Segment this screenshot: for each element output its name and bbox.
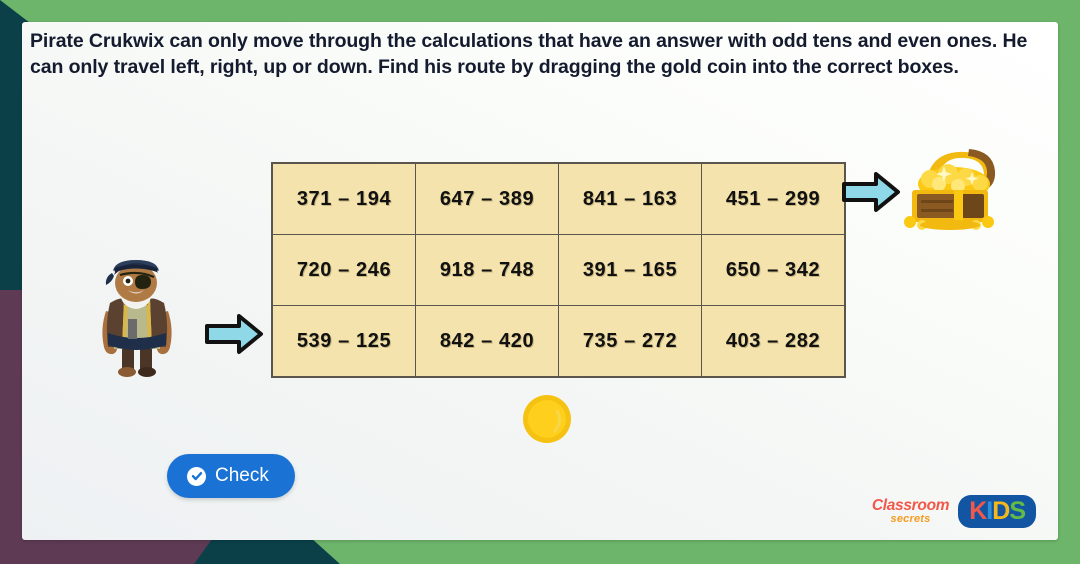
grid-cell[interactable]: 841 – 163 [559, 163, 702, 235]
check-circle-icon [187, 467, 206, 486]
table-row: 371 – 194 647 – 389 841 – 163 451 – 299 [272, 163, 845, 235]
table-row: 539 – 125 842 – 420 735 – 272 403 – 282 [272, 306, 845, 378]
grid-cell[interactable]: 735 – 272 [559, 306, 702, 378]
kids-logo: K I D S [958, 495, 1036, 528]
kids-letter-d: D [992, 499, 1009, 524]
kids-letter-s: S [1009, 499, 1025, 524]
grid-cell[interactable]: 539 – 125 [272, 306, 416, 378]
grid-cell[interactable]: 451 – 299 [702, 163, 846, 235]
grid-cell[interactable]: 647 – 389 [416, 163, 559, 235]
check-button[interactable]: Check [167, 454, 295, 498]
calculation-grid: 371 – 194 647 – 389 841 – 163 451 – 299 … [271, 162, 846, 378]
check-button-label: Check [215, 465, 269, 487]
arrow-right-end-icon [840, 170, 902, 219]
classroom-secrets-logo: Classroom secrets [872, 498, 949, 526]
table-row: 720 – 246 918 – 748 391 – 165 650 – 342 [272, 235, 845, 306]
grid-cell[interactable]: 371 – 194 [272, 163, 416, 235]
grid-cell[interactable]: 403 – 282 [702, 306, 846, 378]
grid-cell[interactable]: 391 – 165 [559, 235, 702, 306]
pirate-crukwix-character [84, 259, 188, 382]
classroom-secrets-bottom-word: secrets [891, 514, 931, 525]
arrow-right-start-icon [203, 312, 265, 361]
activity-panel: Pirate Crukwix can only move through the… [22, 22, 1058, 540]
gold-coin-draggable[interactable] [521, 393, 573, 450]
branding: Classroom secrets K I D S [872, 495, 1036, 528]
grid-cell[interactable]: 918 – 748 [416, 235, 559, 306]
grid-cell[interactable]: 650 – 342 [702, 235, 846, 306]
instructions-text: Pirate Crukwix can only move through the… [30, 28, 1052, 80]
grid-cell[interactable]: 720 – 246 [272, 235, 416, 306]
treasure-chest-icon [896, 146, 1006, 237]
grid-cell[interactable]: 842 – 420 [416, 306, 559, 378]
kids-letter-k: K [969, 499, 986, 524]
classroom-secrets-top-word: Classroom [872, 498, 949, 514]
